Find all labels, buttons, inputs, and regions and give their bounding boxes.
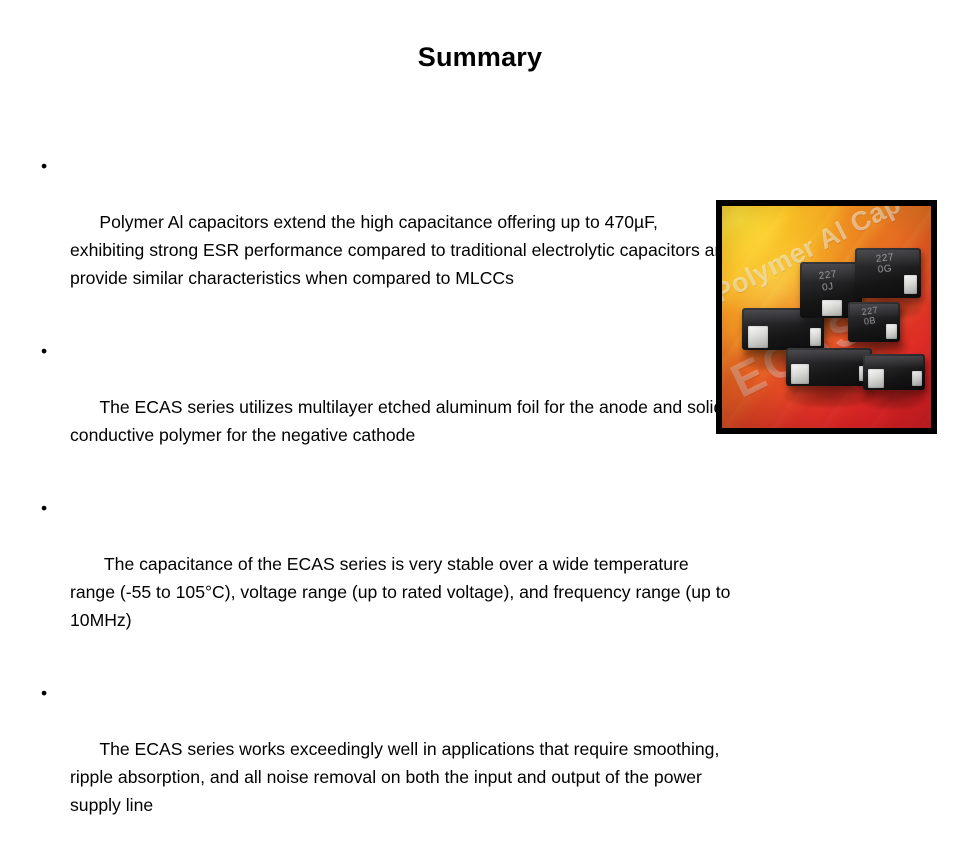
- page-title: Summary: [0, 42, 960, 72]
- list-item: • The ECAS series utilizes multilayer et…: [36, 337, 736, 477]
- bullet-marker-icon: •: [41, 152, 47, 180]
- list-item: • Polymer Al capacitors extend the high …: [36, 152, 736, 320]
- list-item-text: The ECAS series utilizes multilayer etch…: [70, 397, 728, 445]
- list-item: • The capacitance of the ECAS series is …: [36, 494, 736, 662]
- slide-canvas: Summary • Polymer Al capacitors extend t…: [0, 0, 960, 720]
- bullet-marker-icon: •: [41, 679, 47, 707]
- product-photo: Polymer Al Cap ECAS 227 0J 227: [716, 200, 937, 434]
- photo-vignette: [722, 206, 931, 428]
- list-item: • The ECAS series works exceedingly well…: [36, 679, 736, 847]
- list-item-text: Polymer Al capacitors extend the high ca…: [70, 212, 739, 288]
- bullet-marker-icon: •: [41, 494, 47, 522]
- list-item-text: The capacitance of the ECAS series is ve…: [70, 554, 735, 630]
- bullet-marker-icon: •: [41, 337, 47, 365]
- list-item-text: The ECAS series works exceedingly well i…: [70, 739, 724, 815]
- summary-bullet-list: • Polymer Al capacitors extend the high …: [36, 152, 736, 847]
